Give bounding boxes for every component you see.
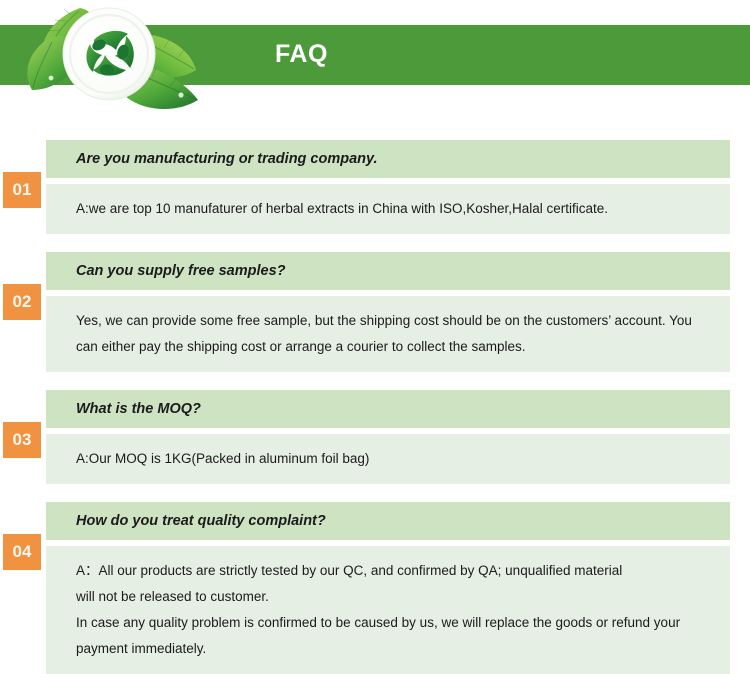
logo-ring (63, 8, 155, 100)
page-title: FAQ (275, 39, 328, 69)
faq-question[interactable]: Can you supply free samples? (46, 252, 730, 290)
faq-item: 04 How do you treat quality complaint? A… (0, 502, 750, 674)
faq-number-badge: 01 (3, 172, 41, 208)
faq-question[interactable]: How do you treat quality complaint? (46, 502, 730, 540)
faq-number-badge: 02 (3, 284, 41, 320)
faq-question[interactable]: What is the MOQ? (46, 390, 730, 428)
brand-logo (22, 0, 222, 118)
faq-question[interactable]: Are you manufacturing or trading company… (46, 140, 730, 178)
faq-answer: Yes, we can provide some free sample, bu… (46, 296, 730, 372)
faq-answer: A:Our MOQ is 1KG(Packed in aluminum foil… (46, 434, 730, 484)
faq-answer: A:we are top 10 manufaturer of herbal ex… (46, 184, 730, 234)
faq-number-badge: 03 (3, 422, 41, 458)
faq-item: 01 Are you manufacturing or trading comp… (0, 140, 750, 234)
page-header: FAQ (0, 0, 750, 118)
faq-answer: A：All our products are strictly tested b… (46, 546, 730, 674)
faq-list: 01 Are you manufacturing or trading comp… (0, 140, 750, 674)
faq-number-badge: 04 (3, 534, 41, 570)
faq-item: 03 What is the MOQ? A:Our MOQ is 1KG(Pac… (0, 390, 750, 484)
leaf-recycle-logo-icon (22, 0, 222, 118)
faq-item: 02 Can you supply free samples? Yes, we … (0, 252, 750, 372)
